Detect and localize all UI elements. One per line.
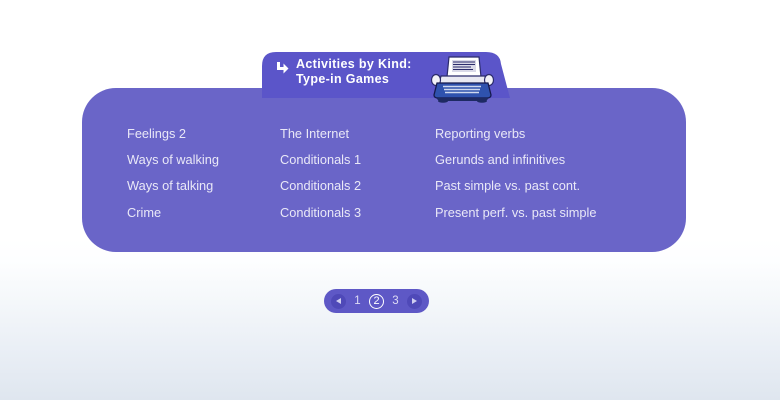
pagination-page-1[interactable]: 1 xyxy=(351,294,364,308)
pagination-page-3[interactable]: 3 xyxy=(389,294,402,308)
activities-card: Feelings 2 Ways of walking Ways of talki… xyxy=(82,88,686,252)
triangle-left-icon xyxy=(336,298,341,304)
list-item[interactable]: Reporting verbs xyxy=(435,121,686,147)
list-item[interactable]: Ways of walking xyxy=(127,147,280,173)
pagination-page-2-current[interactable]: 2 xyxy=(369,294,384,309)
arrow-down-right-icon xyxy=(276,61,290,75)
list-item[interactable]: The Internet xyxy=(280,121,435,147)
activities-column-1: Feelings 2 Ways of walking Ways of talki… xyxy=(82,121,280,252)
list-item[interactable]: Feelings 2 xyxy=(127,121,280,147)
activities-column-3: Reporting verbs Gerunds and infinitives … xyxy=(435,121,686,252)
card-header-tab: Activities by Kind: Type-in Games xyxy=(262,52,510,98)
pagination: 1 2 3 xyxy=(324,289,429,313)
list-item[interactable]: Conditionals 2 xyxy=(280,173,435,199)
triangle-right-icon xyxy=(412,298,417,304)
activities-column-2: The Internet Conditionals 1 Conditionals… xyxy=(280,121,435,252)
activities-columns: Feelings 2 Ways of walking Ways of talki… xyxy=(82,88,686,252)
list-item[interactable]: Conditionals 1 xyxy=(280,147,435,173)
list-item[interactable]: Conditionals 3 xyxy=(280,200,435,226)
list-item[interactable]: Present perf. vs. past simple xyxy=(435,200,686,226)
page-root: Feelings 2 Ways of walking Ways of talki… xyxy=(0,0,780,400)
header-tab-content: Activities by Kind: Type-in Games xyxy=(262,52,510,98)
typewriter-icon xyxy=(427,55,495,103)
pagination-prev-button[interactable] xyxy=(331,294,346,309)
list-item[interactable]: Crime xyxy=(127,200,280,226)
list-item[interactable]: Ways of talking xyxy=(127,173,280,199)
list-item[interactable]: Past simple vs. past cont. xyxy=(435,173,686,199)
list-item[interactable]: Gerunds and infinitives xyxy=(435,147,686,173)
background-gradient xyxy=(0,238,780,400)
pagination-next-button[interactable] xyxy=(407,294,422,309)
